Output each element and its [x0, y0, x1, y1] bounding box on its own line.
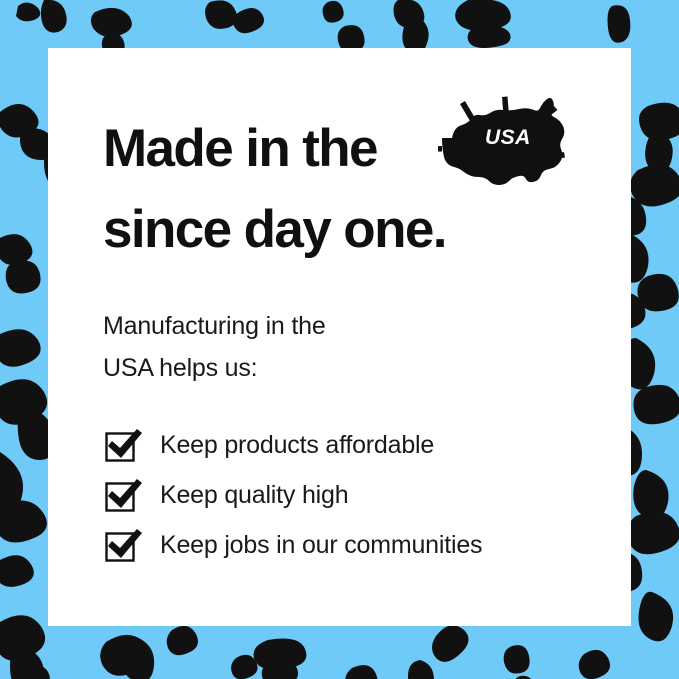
list-item: Keep jobs in our communities: [103, 520, 613, 569]
content-card: Made in the USA: [48, 48, 631, 626]
list-item: Keep quality high: [103, 470, 613, 519]
list-item-label: Keep jobs in our communities: [160, 530, 482, 560]
headline-line-2: since day one.: [103, 188, 623, 272]
checked-checkbox-icon: [103, 524, 145, 566]
body-copy-line-2: USA helps us:: [103, 347, 533, 389]
headline-line-1: Made in the USA: [103, 104, 623, 188]
benefits-checklist: Keep products affordable Keep quality hi…: [103, 420, 613, 570]
list-item: Keep products affordable: [103, 420, 613, 469]
checked-checkbox-icon: [103, 424, 145, 466]
body-copy-block: Manufacturing in the USA helps us:: [103, 305, 533, 389]
headline-block: Made in the USA: [103, 104, 623, 272]
checked-checkbox-icon: [103, 474, 145, 516]
usa-map-label: USA: [485, 126, 531, 149]
body-copy-line-1: Manufacturing in the: [103, 305, 533, 347]
list-item-label: Keep quality high: [160, 480, 348, 510]
headline-line-1-text: Made in the: [103, 107, 377, 191]
promo-graphic: Made in the USA: [0, 0, 679, 679]
usa-map-icon: USA: [438, 56, 598, 191]
list-item-label: Keep products affordable: [160, 430, 434, 460]
